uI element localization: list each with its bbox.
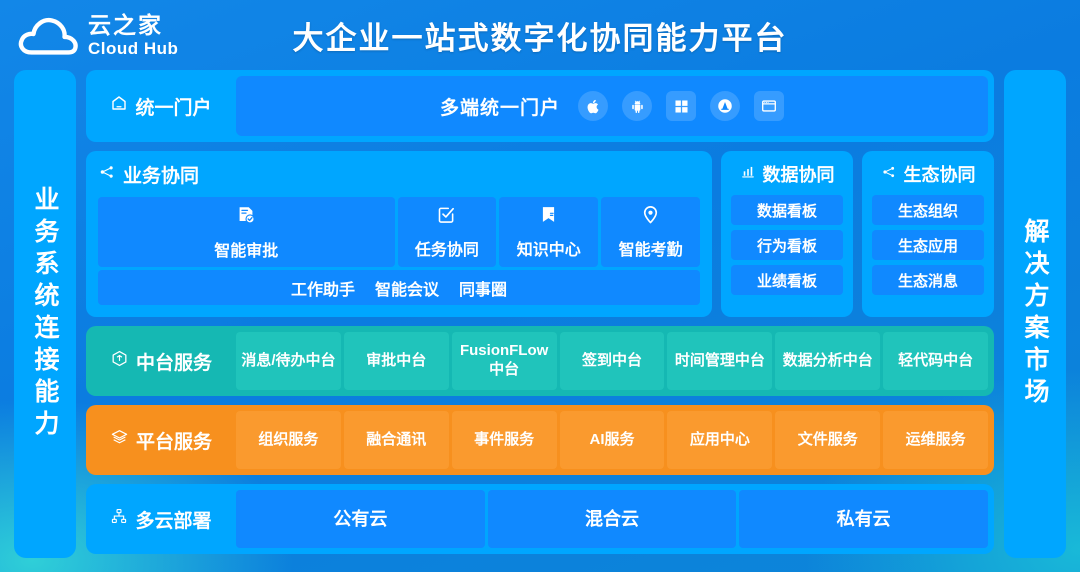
bar-chart-icon (740, 164, 756, 185)
center-column: 统一门户 多端统一门户 (86, 70, 994, 558)
business-card-approval[interactable]: 智能审批 (98, 197, 395, 267)
cloud-deployment-items: 公有云 混合云 私有云 (236, 490, 988, 548)
platform-service-item-communication[interactable]: 融合通讯 (344, 411, 449, 469)
share-nodes-icon (98, 163, 116, 187)
android-icon (622, 91, 652, 121)
unified-portal-label-text: 统一门户 (135, 93, 211, 120)
eco-collaboration-title: 生态协同 (872, 161, 984, 187)
data-collaboration-section: 数据协同 数据看板 行为看板 业绩看板 (721, 151, 853, 317)
data-collaboration-title: 数据协同 (731, 161, 843, 187)
eco-collaboration-section: 生态协同 生态组织 生态应用 生态消息 (862, 151, 994, 317)
diagram-body: 业务系统连接能力 统一门户 多端统一门户 (0, 70, 1080, 570)
eco-item-organization[interactable]: 生态组织 (872, 195, 984, 225)
share-nodes-icon (881, 164, 897, 185)
cube-icon (110, 349, 129, 374)
middle-platform-item-fusionflow[interactable]: FusionFLow中台 (452, 332, 557, 390)
home-icon (110, 94, 128, 118)
cloud-item-public[interactable]: 公有云 (236, 490, 485, 548)
cloud-deployment-label: 多云部署 (86, 484, 236, 554)
sitemap-icon (110, 507, 128, 531)
platform-services-row: 平台服务 组织服务 融合通讯 事件服务 AI服务 应用中心 文件服务 运维服务 (86, 405, 994, 475)
book-icon (538, 204, 559, 230)
business-card-label: 智能考勤 (619, 236, 683, 260)
middle-platform-item-checkin[interactable]: 签到中台 (560, 332, 665, 390)
cloud-item-hybrid[interactable]: 混合云 (488, 490, 737, 548)
apple-icon (578, 91, 608, 121)
middle-platform-item-lowcode[interactable]: 轻代码中台 (883, 332, 988, 390)
business-card-label: 任务协同 (415, 236, 479, 260)
platform-services-label-text: 平台服务 (136, 427, 212, 454)
platform-service-item-event[interactable]: 事件服务 (452, 411, 557, 469)
approval-doc-icon (235, 204, 257, 231)
business-card-label: 智能审批 (214, 237, 278, 261)
unified-portal-label: 统一门户 (86, 70, 236, 142)
platform-service-item-organization[interactable]: 组织服务 (236, 411, 341, 469)
left-sidebar-label: 业务系统连接能力 (14, 70, 76, 558)
platform-service-item-file[interactable]: 文件服务 (775, 411, 880, 469)
task-check-icon (436, 204, 457, 230)
location-pin-icon (640, 204, 661, 230)
middle-platform-items: 消息/待办中台 审批中台 FusionFLow中台 签到中台 时间管理中台 数据… (236, 332, 988, 390)
platform-service-item-appcenter[interactable]: 应用中心 (667, 411, 772, 469)
data-item-behavior[interactable]: 行为看板 (731, 230, 843, 260)
collaboration-band: 业务协同 智能审批 (86, 151, 994, 317)
layers-icon (110, 428, 129, 453)
right-sidebar-label: 解决方案市场 (1004, 70, 1066, 558)
multi-client-portal-text: 多端统一门户 (440, 93, 560, 120)
eco-item-message[interactable]: 生态消息 (872, 265, 984, 295)
middle-platform-label: 中台服务 (86, 326, 236, 396)
cloud-item-private[interactable]: 私有云 (739, 490, 988, 548)
cloud-deployment-label-text: 多云部署 (135, 506, 211, 533)
platform-services-items: 组织服务 融合通讯 事件服务 AI服务 应用中心 文件服务 运维服务 (236, 411, 988, 469)
business-footer-item[interactable]: 智能会议 (375, 276, 439, 300)
browser-window-icon (754, 91, 784, 121)
business-card-label: 知识中心 (517, 236, 581, 260)
business-footer-item[interactable]: 工作助手 (291, 276, 355, 300)
business-collaboration-title-text: 业务协同 (123, 161, 199, 188)
middle-platform-item-time[interactable]: 时间管理中台 (667, 332, 772, 390)
page-title: 大企业一站式数字化协同能力平台 (0, 13, 1080, 58)
data-item-dashboard[interactable]: 数据看板 (731, 195, 843, 225)
business-card-knowledge[interactable]: 知识中心 (499, 197, 598, 267)
diagram-canvas: 云之家 Cloud Hub 大企业一站式数字化协同能力平台 业务系统连接能力 (0, 0, 1080, 572)
windows-icon (666, 91, 696, 121)
unified-portal-row: 统一门户 多端统一门户 (86, 70, 994, 142)
business-card-grid: 智能审批 任务协同 (98, 197, 700, 267)
cloud-deployment-row: 多云部署 公有云 混合云 私有云 (86, 484, 994, 554)
platform-service-item-ops[interactable]: 运维服务 (883, 411, 988, 469)
business-footer-items: 工作助手 智能会议 同事圈 (98, 270, 700, 305)
middle-platform-label-text: 中台服务 (136, 348, 212, 375)
middle-platform-item-analytics[interactable]: 数据分析中台 (775, 332, 880, 390)
platform-services-label: 平台服务 (86, 405, 236, 475)
appstore-icon (710, 91, 740, 121)
business-footer-item[interactable]: 同事圈 (459, 276, 507, 300)
platform-service-item-ai[interactable]: AI服务 (560, 411, 665, 469)
business-collaboration-title: 业务协同 (98, 161, 700, 188)
business-card-attendance[interactable]: 智能考勤 (601, 197, 700, 267)
middle-platform-row: 中台服务 消息/待办中台 审批中台 FusionFLow中台 签到中台 时间管理… (86, 326, 994, 396)
eco-item-application[interactable]: 生态应用 (872, 230, 984, 260)
middle-platform-item-message[interactable]: 消息/待办中台 (236, 332, 341, 390)
eco-collaboration-title-text: 生态协同 (904, 161, 976, 187)
middle-platform-item-approval[interactable]: 审批中台 (344, 332, 449, 390)
header: 云之家 Cloud Hub 大企业一站式数字化协同能力平台 (0, 0, 1080, 70)
business-collaboration-section: 业务协同 智能审批 (86, 151, 712, 317)
unified-portal-body: 多端统一门户 (236, 76, 988, 136)
business-card-task[interactable]: 任务协同 (398, 197, 497, 267)
data-item-performance[interactable]: 业绩看板 (731, 265, 843, 295)
data-collaboration-title-text: 数据协同 (763, 161, 835, 187)
